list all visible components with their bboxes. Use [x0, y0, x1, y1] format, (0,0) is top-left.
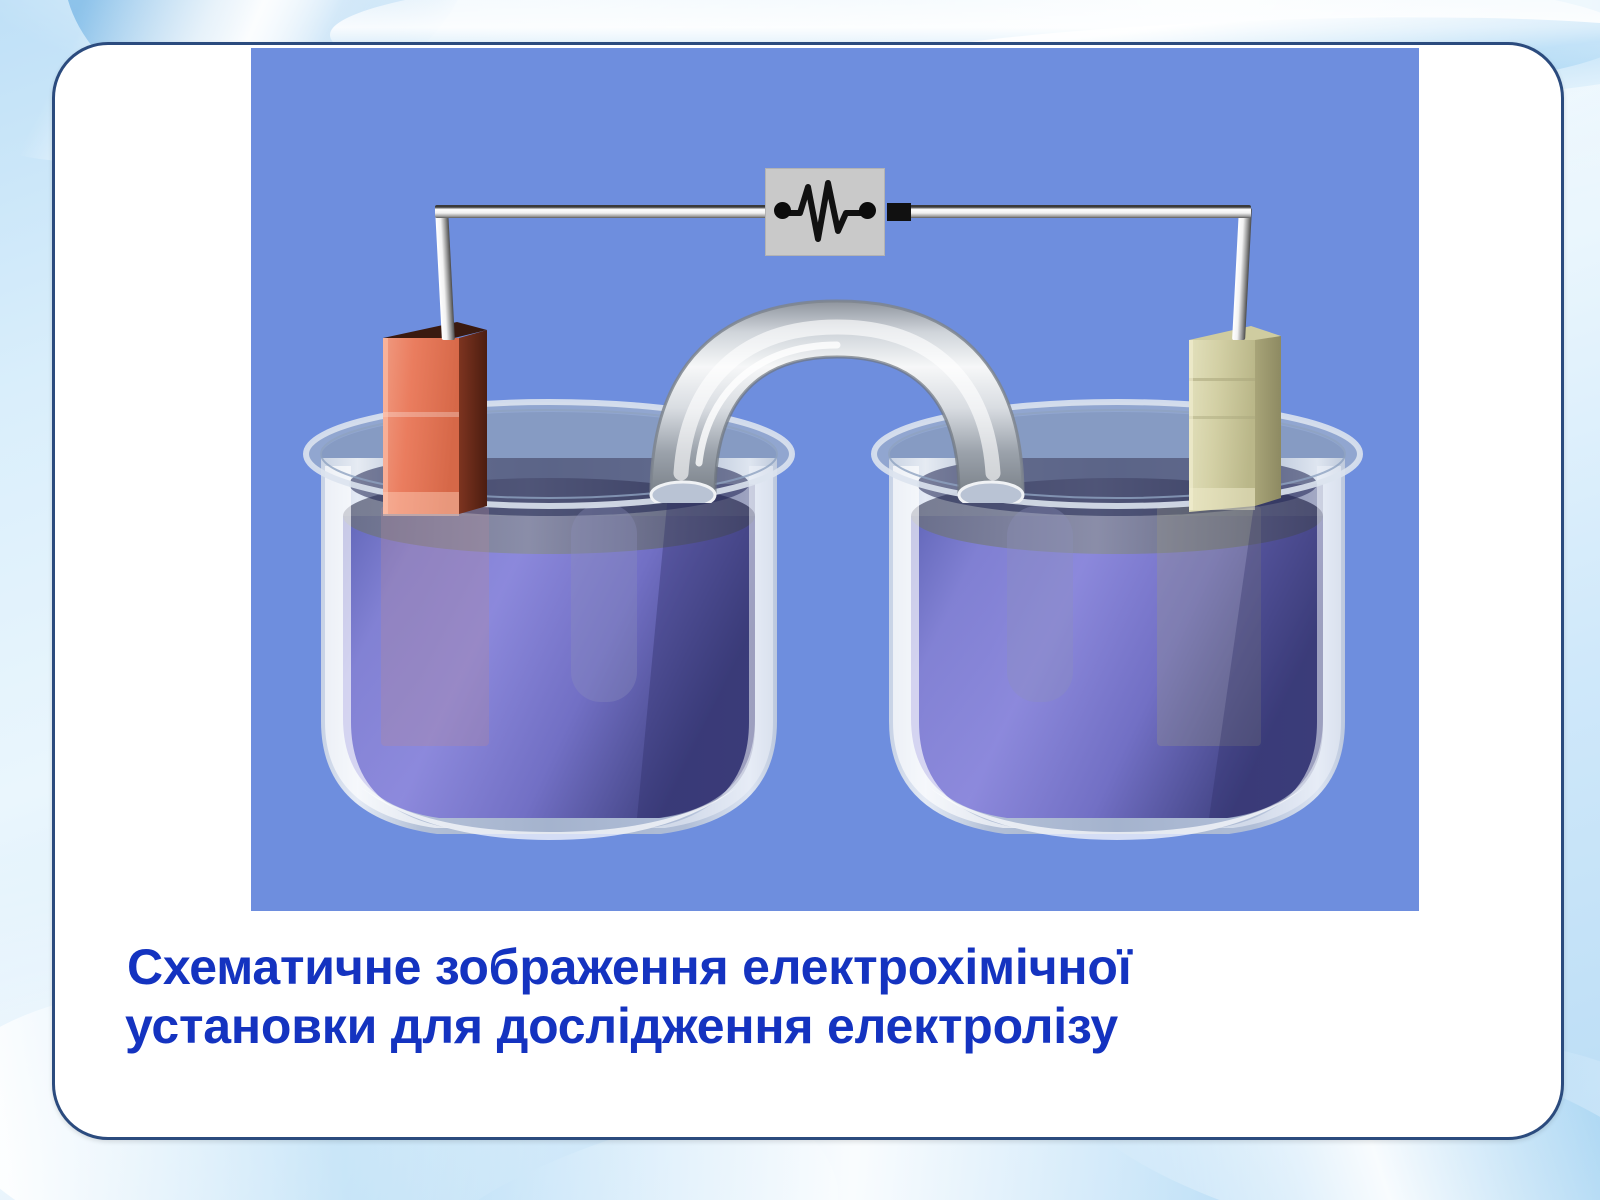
- content-panel: Схематичне зображення електрохімічної ус…: [52, 42, 1564, 1140]
- top-left-wire: [435, 205, 787, 218]
- slide-canvas: Схематичне зображення електрохімічної ус…: [0, 0, 1600, 1200]
- salt-bridge-tube: [581, 273, 1093, 503]
- meter-terminal-right: [859, 202, 876, 219]
- meter-lead-stub: [887, 203, 911, 221]
- caption-line-1: Схематичне зображення електрохімічної: [125, 938, 1505, 997]
- page-title: Схематичне зображення електрохімічної ус…: [125, 938, 1505, 1055]
- meter-terminal-left: [774, 202, 791, 219]
- zinc-electrode-cathode: [1181, 320, 1289, 520]
- top-right-wire: [905, 205, 1251, 218]
- galvanometer: [765, 168, 885, 256]
- caption-line-2: установки для дослідження електролізу: [125, 997, 1505, 1056]
- electrochemical-cell-illustration: [251, 48, 1419, 911]
- copper-electrode-anode: [379, 316, 491, 521]
